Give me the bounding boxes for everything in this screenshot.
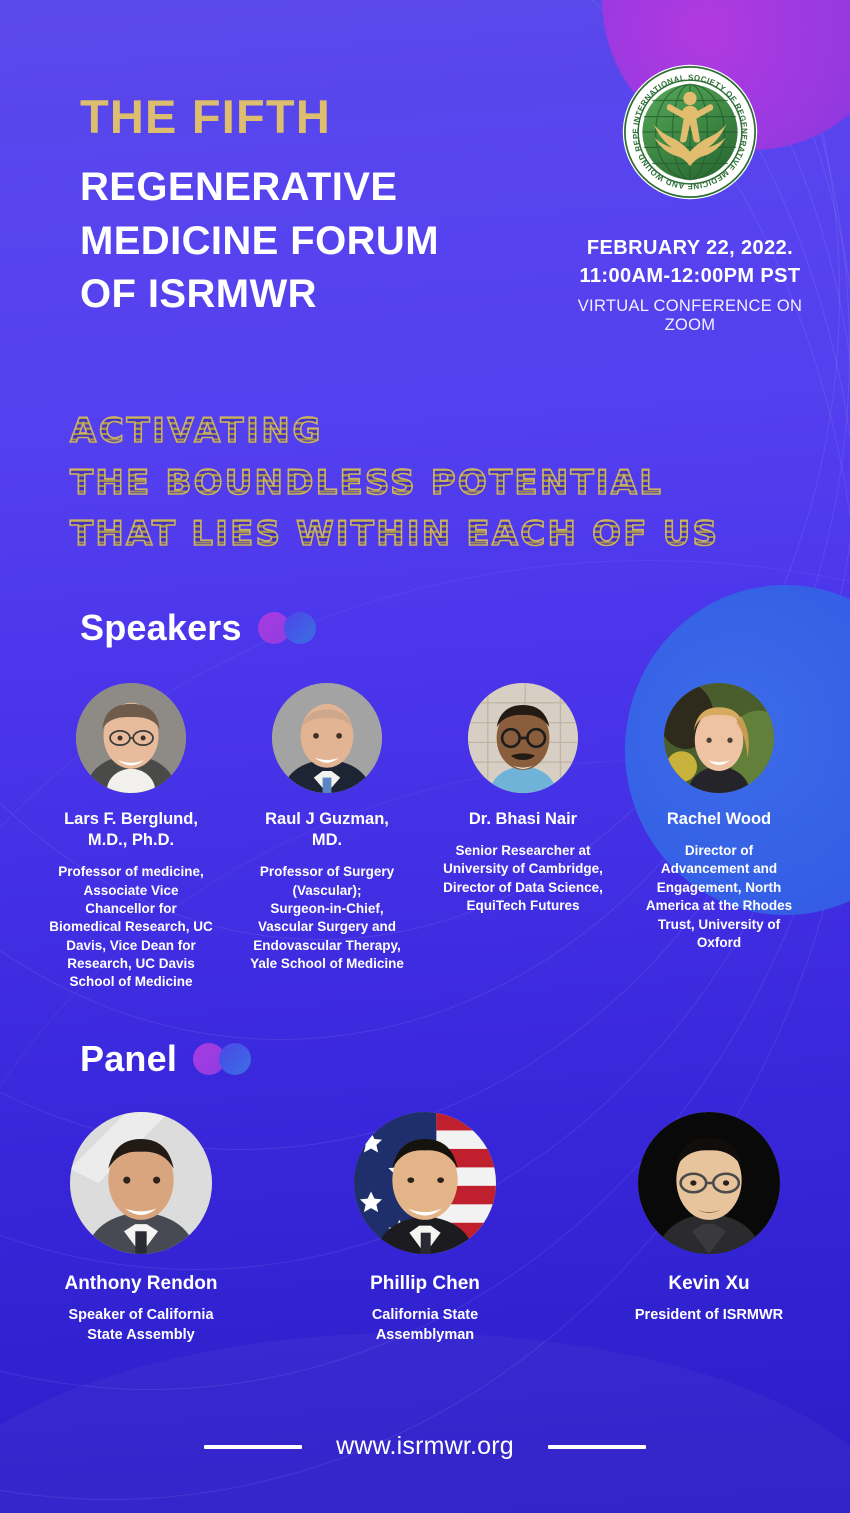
portrait-kevin-xu: [638, 1112, 780, 1254]
footer-rule-right: [548, 1445, 646, 1449]
panelist-name: Kevin Xu: [604, 1272, 814, 1296]
speaker-name: Lars F. Berglund, M.D., Ph.D.: [39, 809, 223, 851]
speaker-card: Dr. Bhasi Nair Senior Researcher at Univ…: [425, 683, 621, 992]
event-title-block: THE FIFTH REGENERATIVE MEDICINE FORUM OF…: [80, 92, 439, 321]
panelist-name: Phillip Chen: [320, 1272, 530, 1296]
speaker-card: Raul J Guzman, MD. Professor of Surgery …: [229, 683, 425, 992]
speaker-role: Director of Advancement and Engagement, …: [627, 842, 811, 952]
two-circles-icon: [193, 1043, 257, 1075]
tagline-line-1: ACTIVATING: [70, 406, 850, 458]
title-line-2: MEDICINE FORUM: [80, 215, 439, 268]
portrait-bhasi-nair: [468, 683, 578, 793]
title-line-1: REGENERATIVE: [80, 161, 439, 214]
speaker-role: Senior Researcher at University of Cambr…: [431, 842, 615, 915]
conference-poster: THE FIFTH REGENERATIVE MEDICINE FORUM OF…: [0, 0, 850, 1513]
speaker-role: Professor of Surgery (Vascular); Surgeon…: [235, 863, 419, 973]
speaker-card: Rachel Wood Director of Advancement and …: [621, 683, 817, 992]
speaker-card: Lars F. Berglund, M.D., Ph.D. Professor …: [33, 683, 229, 992]
panel-grid: Anthony Rendon Speaker of California Sta…: [0, 1112, 850, 1346]
speaker-name: Dr. Bhasi Nair: [431, 809, 615, 830]
poster-header: THE FIFTH REGENERATIVE MEDICINE FORUM OF…: [0, 0, 850, 370]
panelist-name: Anthony Rendon: [36, 1272, 246, 1296]
portrait-raul-guzman: [272, 683, 382, 793]
panel-section-heading: Panel: [0, 1038, 850, 1080]
speaker-role: Professor of medicine, Associate Vice Ch…: [39, 863, 223, 992]
portrait-anthony-rendon: [70, 1112, 212, 1254]
tagline-line-2: THE BOUNDLESS POTENTIAL: [70, 458, 850, 510]
portrait-lars-berglund: [76, 683, 186, 793]
speaker-name: Raul J Guzman, MD.: [235, 809, 419, 851]
portrait-rachel-wood: [664, 683, 774, 793]
panelist-card: Phillip Chen California State Assemblyma…: [320, 1112, 530, 1346]
portrait-phillip-chen: [354, 1112, 496, 1254]
tagline-line-3: THAT LIES WITHIN EACH OF US: [70, 509, 850, 561]
footer-rule-left: [204, 1445, 302, 1449]
event-tagline: ACTIVATING THE BOUNDLESS POTENTIAL THAT …: [0, 406, 850, 561]
panelist-card: Kevin Xu President of ISRMWR: [604, 1112, 814, 1346]
panelist-role: California State Assemblyman: [320, 1306, 530, 1345]
title-line-3: OF ISRMWR: [80, 268, 439, 321]
decorative-bottom-arc: [0, 1333, 850, 1513]
poster-footer: www.isrmwr.org: [0, 1432, 850, 1461]
isrmwr-seal-logo: THE INTERNATIONAL SOCIETY OF REGENERATIV…: [620, 62, 760, 202]
event-time: 11:00AM-12:00PM PST: [560, 262, 820, 290]
event-date: FEBRUARY 22, 2022.: [560, 234, 820, 262]
website-url[interactable]: www.isrmwr.org: [336, 1432, 514, 1461]
event-datetime-block: FEBRUARY 22, 2022. 11:00AM-12:00PM PST V…: [560, 234, 820, 335]
speakers-grid: Lars F. Berglund, M.D., Ph.D. Professor …: [0, 683, 850, 992]
two-circles-icon: [258, 612, 322, 644]
panelist-role: Speaker of California State Assembly: [36, 1306, 246, 1345]
panelist-role: President of ISRMWR: [604, 1306, 814, 1326]
event-venue: VIRTUAL CONFERENCE ON ZOOM: [560, 297, 820, 335]
speakers-heading-label: Speakers: [80, 607, 242, 649]
panel-heading-label: Panel: [80, 1038, 177, 1080]
title-highlight: THE FIFTH: [80, 92, 439, 141]
logo-and-date-block: THE INTERNATIONAL SOCIETY OF REGENERATIV…: [560, 62, 820, 335]
speakers-section-heading: Speakers: [0, 607, 850, 649]
speaker-name: Rachel Wood: [627, 809, 811, 830]
panelist-card: Anthony Rendon Speaker of California Sta…: [36, 1112, 246, 1346]
